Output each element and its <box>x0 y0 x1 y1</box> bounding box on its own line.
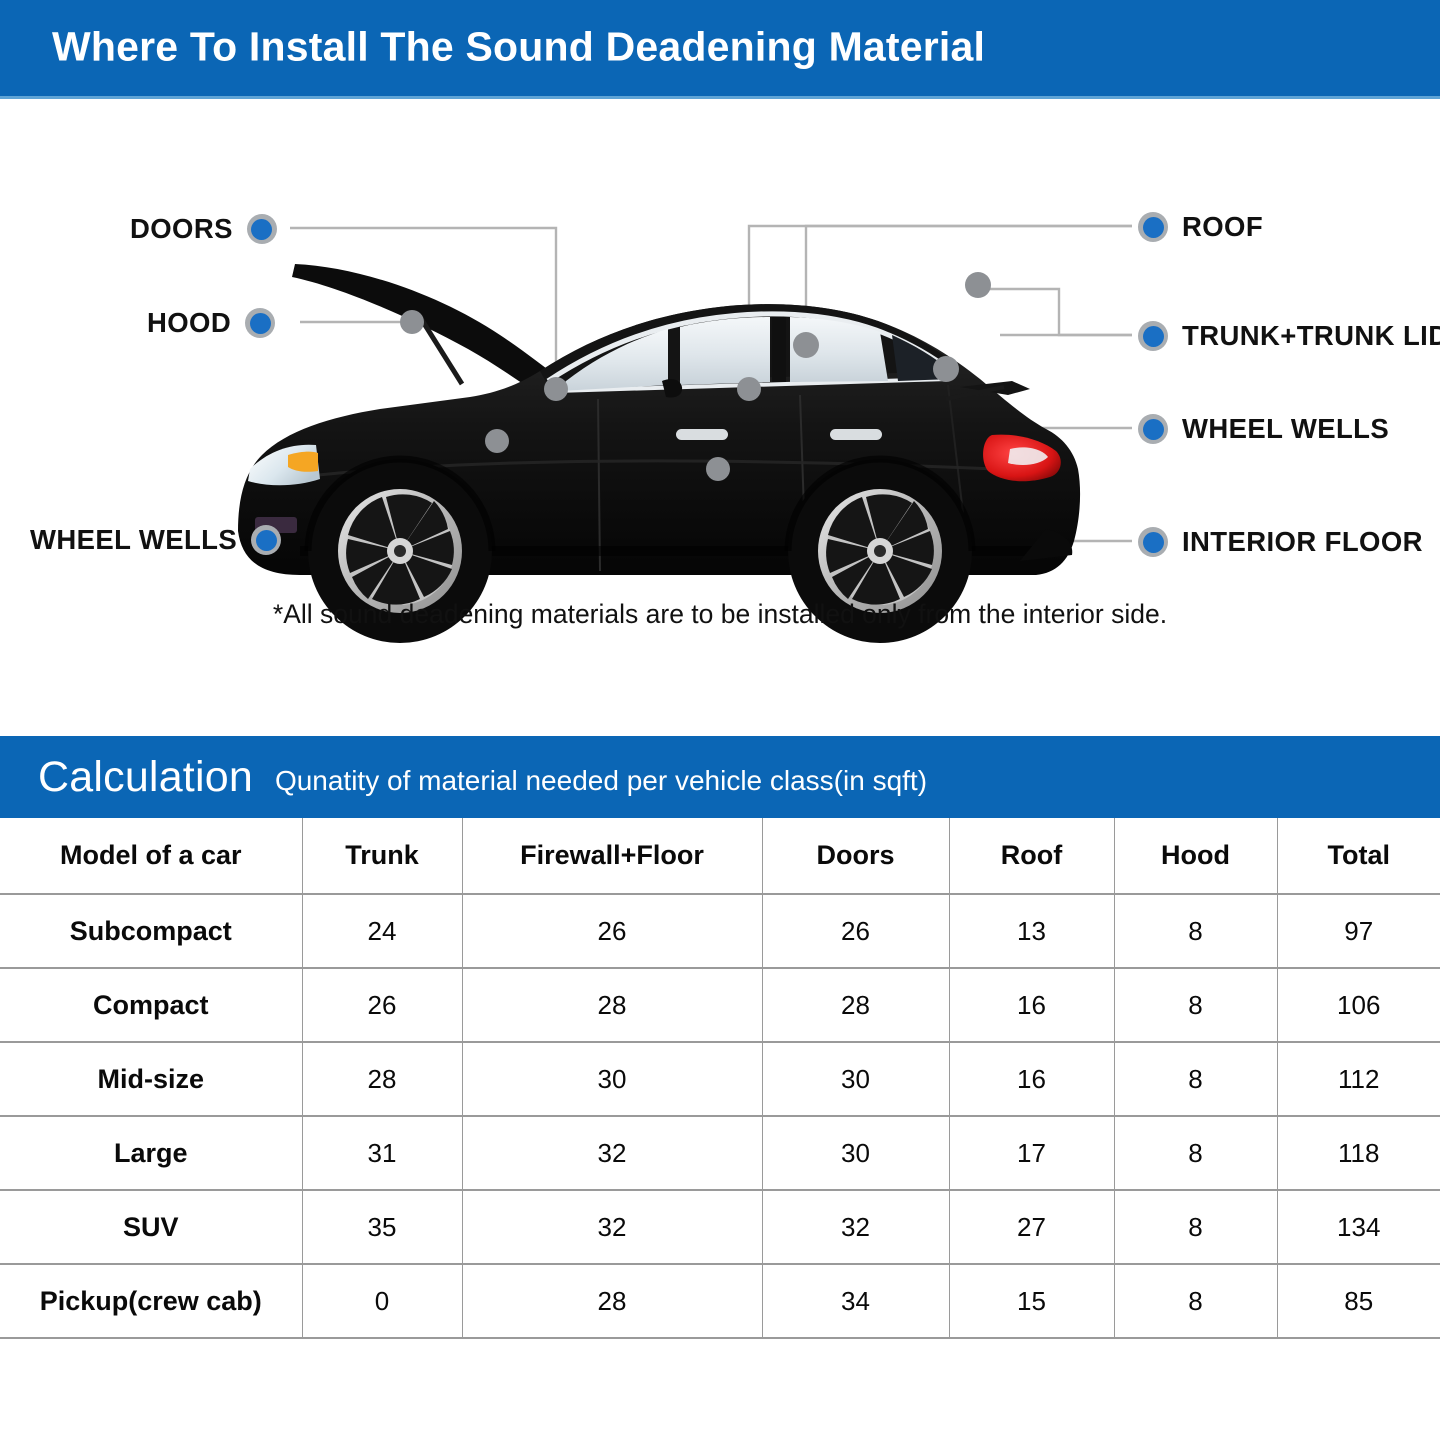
cell-hood: 8 <box>1114 968 1277 1042</box>
cell-doors: 26 <box>762 894 949 968</box>
calculation-banner: Calculation Qunatity of material needed … <box>0 736 1440 818</box>
table-header-hood: Hood <box>1114 818 1277 894</box>
cell-model: Compact <box>0 968 302 1042</box>
cell-roof: 16 <box>949 968 1114 1042</box>
callout-label-trunk: TRUNK+TRUNK LID <box>1182 320 1440 352</box>
cell-roof: 16 <box>949 1042 1114 1116</box>
cell-model: Mid-size <box>0 1042 302 1116</box>
table-header-trunk: Trunk <box>302 818 462 894</box>
cell-doors: 30 <box>762 1116 949 1190</box>
cell-firewall-floor: 28 <box>462 968 762 1042</box>
cell-trunk: 24 <box>302 894 462 968</box>
cell-trunk: 26 <box>302 968 462 1042</box>
callout-label-hood: HOOD <box>147 307 231 339</box>
callout-label-interior-floor: INTERIOR FLOOR <box>1182 526 1423 558</box>
table-header-doors: Doors <box>762 818 949 894</box>
table-row: Pickup(crew cab) 0 28 34 15 8 85 <box>0 1264 1440 1338</box>
cell-doors: 28 <box>762 968 949 1042</box>
cell-firewall-floor: 26 <box>462 894 762 968</box>
cell-roof: 17 <box>949 1116 1114 1190</box>
cell-trunk: 0 <box>302 1264 462 1338</box>
marker-dot-icon <box>251 525 281 555</box>
marker-dot-icon <box>247 214 277 244</box>
cell-trunk: 28 <box>302 1042 462 1116</box>
table-header-firewall-floor: Firewall+Floor <box>462 818 762 894</box>
marker-dot-icon <box>1138 414 1168 444</box>
table-header-total: Total <box>1277 818 1440 894</box>
cell-model: SUV <box>0 1190 302 1264</box>
table-row: Compact 26 28 28 16 8 106 <box>0 968 1440 1042</box>
diagram-footnote: *All sound deadening materials are to be… <box>0 599 1440 630</box>
callout-roof: ROOF <box>1138 211 1263 243</box>
cell-total: 85 <box>1277 1264 1440 1338</box>
cell-total: 106 <box>1277 968 1440 1042</box>
callout-trunk: TRUNK+TRUNK LID <box>1138 320 1440 352</box>
cell-total: 97 <box>1277 894 1440 968</box>
callout-label-roof: ROOF <box>1182 211 1263 243</box>
page-title: Where To Install The Sound Deadening Mat… <box>52 24 985 71</box>
cell-firewall-floor: 30 <box>462 1042 762 1116</box>
table-header-row: Model of a car Trunk Firewall+Floor Door… <box>0 818 1440 894</box>
cell-hood: 8 <box>1114 1264 1277 1338</box>
cell-roof: 13 <box>949 894 1114 968</box>
cell-roof: 27 <box>949 1190 1114 1264</box>
cell-firewall-floor: 32 <box>462 1116 762 1190</box>
cell-total: 112 <box>1277 1042 1440 1116</box>
cell-roof: 15 <box>949 1264 1114 1338</box>
marker-dot-icon <box>1138 212 1168 242</box>
cell-doors: 34 <box>762 1264 949 1338</box>
install-diagram: DOORS HOOD WHEEL WELLS ROOF TRUNK+TRUNK … <box>0 99 1440 719</box>
cell-hood: 8 <box>1114 894 1277 968</box>
cell-trunk: 35 <box>302 1190 462 1264</box>
callout-wheel-wells-left: WHEEL WELLS <box>30 524 281 556</box>
table-row: SUV 35 32 32 27 8 134 <box>0 1190 1440 1264</box>
cell-trunk: 31 <box>302 1116 462 1190</box>
cell-firewall-floor: 32 <box>462 1190 762 1264</box>
callout-label-doors: DOORS <box>130 213 233 245</box>
table-row: Mid-size 28 30 30 16 8 112 <box>0 1042 1440 1116</box>
marker-dot-icon <box>1138 321 1168 351</box>
marker-dot-icon <box>245 308 275 338</box>
table-row: Subcompact 24 26 26 13 8 97 <box>0 894 1440 968</box>
cell-hood: 8 <box>1114 1190 1277 1264</box>
callout-hood: HOOD <box>147 307 275 339</box>
cell-model: Subcompact <box>0 894 302 968</box>
callout-doors: DOORS <box>130 213 277 245</box>
callout-wheel-wells-right: WHEEL WELLS <box>1138 413 1389 445</box>
callout-interior-floor: INTERIOR FLOOR <box>1138 526 1423 558</box>
callout-label-wheel-wells-right: WHEEL WELLS <box>1182 413 1389 445</box>
calculation-table: Model of a car Trunk Firewall+Floor Door… <box>0 818 1440 1339</box>
calculation-subtitle: Qunatity of material needed per vehicle … <box>275 765 927 797</box>
cell-doors: 30 <box>762 1042 949 1116</box>
cell-total: 134 <box>1277 1190 1440 1264</box>
table-header-roof: Roof <box>949 818 1114 894</box>
cell-hood: 8 <box>1114 1116 1277 1190</box>
cell-total: 118 <box>1277 1116 1440 1190</box>
page-header-banner: Where To Install The Sound Deadening Mat… <box>0 0 1440 99</box>
callout-label-wheel-wells-left: WHEEL WELLS <box>30 524 237 556</box>
calculation-title: Calculation <box>38 753 253 802</box>
cell-model: Large <box>0 1116 302 1190</box>
marker-dot-icon <box>1138 527 1168 557</box>
table-row: Large 31 32 30 17 8 118 <box>0 1116 1440 1190</box>
cell-firewall-floor: 28 <box>462 1264 762 1338</box>
cell-doors: 32 <box>762 1190 949 1264</box>
cell-hood: 8 <box>1114 1042 1277 1116</box>
cell-model: Pickup(crew cab) <box>0 1264 302 1338</box>
table-header-model: Model of a car <box>0 818 302 894</box>
